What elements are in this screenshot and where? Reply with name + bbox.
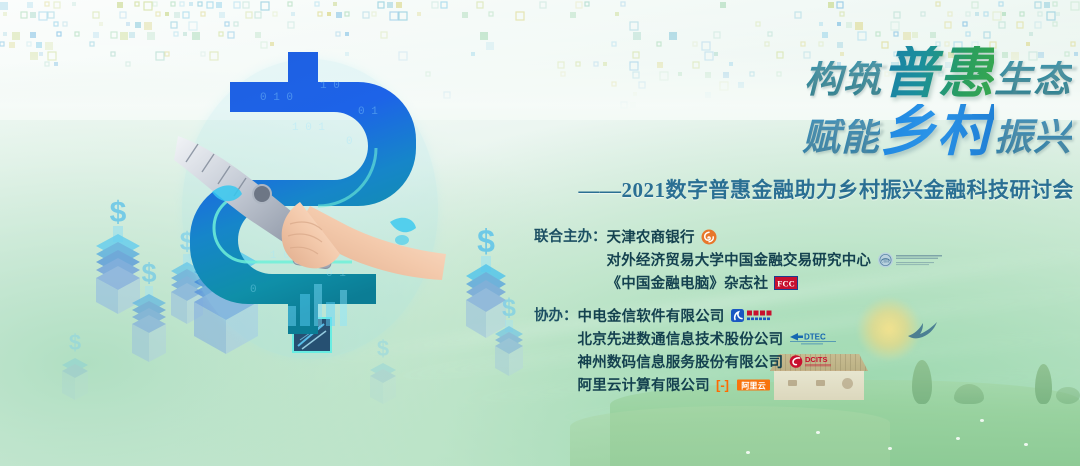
host-organizer-name: 《中国金融电脑》杂志社 xyxy=(607,272,769,293)
coorganizer-name: 神州数码信息服务股份有限公司 xyxy=(578,351,784,372)
svg-text:$: $ xyxy=(69,330,81,355)
svg-text:$: $ xyxy=(477,224,495,259)
main-title: 构筑普惠生态 赋能乡村振兴 xyxy=(520,46,1080,160)
title-line-1: 构筑普惠生态 xyxy=(520,46,1072,102)
coorganizer-label: 协办： xyxy=(534,305,578,327)
svg-text:0 1 0: 0 1 0 xyxy=(260,92,293,104)
coorganizer-row: 北京先进数通信息技术股份公司 DTEC xyxy=(578,328,838,349)
coorganizer-name: 中电金信软件有限公司 xyxy=(578,305,725,326)
coorganizer-row: 中电金信软件有限公司 xyxy=(578,305,838,326)
svg-text:0: 0 xyxy=(250,284,257,296)
coorganizer-row: 阿里云计算有限公司 [-] 阿里云 xyxy=(578,374,838,395)
dtec-logo: DTEC xyxy=(789,331,837,346)
svg-text:1 0 1: 1 0 1 xyxy=(292,122,325,134)
svg-text:UIBE: UIBE xyxy=(881,259,890,263)
tjrcb-logo xyxy=(701,229,717,245)
aliyun-logo: [-] 阿里云 xyxy=(716,377,772,393)
title-line2-part3: 振兴 xyxy=(994,119,1072,157)
host-organizer-row: 《中国金融电脑》杂志社 FCC xyxy=(607,272,946,293)
dcits-logo: DCITS xyxy=(789,354,835,369)
title-line1-part1: 构筑 xyxy=(804,61,882,99)
host-organizer-row: 对外经济贸易大学中国金融交易研究中心 UIBE xyxy=(607,249,946,270)
dcits-logo-text: DCITS xyxy=(805,355,828,364)
aliyun-logo-text: 阿里云 xyxy=(741,381,766,390)
title-line1-part3: 生态 xyxy=(994,61,1072,99)
coorganizer-name: 北京先进数通信息技术股份公司 xyxy=(578,328,784,349)
cec-ciantech-logo xyxy=(731,308,787,323)
dtec-logo-text: DTEC xyxy=(804,332,826,341)
title-line2-part1: 赋能 xyxy=(802,119,880,157)
host-organizer-name: 天津农商银行 xyxy=(607,226,695,247)
svg-text:1 0: 1 0 xyxy=(320,80,340,92)
svg-text:0: 0 xyxy=(346,136,353,148)
organizers-section: 联合主办： 天津农商银行 对外经济贸易大学中国金融 xyxy=(520,226,1080,395)
title-line2-highlight: 乡村 xyxy=(880,104,994,160)
host-organizer-name: 对外经济贸易大学中国金融交易研究中心 xyxy=(607,249,872,270)
svg-text:0 1: 0 1 xyxy=(358,106,378,118)
dollar-data-tower: $ xyxy=(60,330,90,410)
host-organizer-row: 天津农商银行 xyxy=(607,226,946,247)
coorganizer-name: 阿里云计算有限公司 xyxy=(578,374,710,395)
svg-text:0 1: 0 1 xyxy=(326,268,346,280)
host-organizers-block: 联合主办： 天津农商银行 对外经济贸易大学中国金融 xyxy=(534,226,1080,293)
svg-text:[-]: [-] xyxy=(716,377,729,392)
uibe-logo: UIBE xyxy=(877,251,945,269)
event-banner: $ $ xyxy=(0,0,1080,466)
coorganizer-row: 神州数码信息服务股份有限公司 DCITS xyxy=(578,351,838,372)
event-subtitle: ——2021数字普惠金融助力乡村振兴金融科技研讨会 xyxy=(520,174,1080,204)
title-line-2: 赋能乡村振兴 xyxy=(520,104,1072,160)
green-field-back xyxy=(570,406,890,466)
fcc-logo-text: FCC xyxy=(777,278,794,288)
fcc-logo: FCC xyxy=(774,276,798,290)
coorganizers-block: 协办： 中电金信软件有限公司 xyxy=(534,305,1080,395)
host-label: 联合主办： xyxy=(534,226,607,248)
svg-text:$: $ xyxy=(110,196,127,229)
svg-text:$: $ xyxy=(502,294,516,322)
dollar-handshake-graphic: 0 1 0 1 0 0 1 1 0 1 0 1 0 1 0 1 0 1 xyxy=(150,44,470,374)
dollar-data-tower: $ xyxy=(92,196,144,322)
banner-content: 构筑普惠生态 赋能乡村振兴 ——2021数字普惠金融助力乡村振兴金融科技研讨会 … xyxy=(520,46,1080,366)
title-line1-highlight: 普惠 xyxy=(882,46,994,102)
